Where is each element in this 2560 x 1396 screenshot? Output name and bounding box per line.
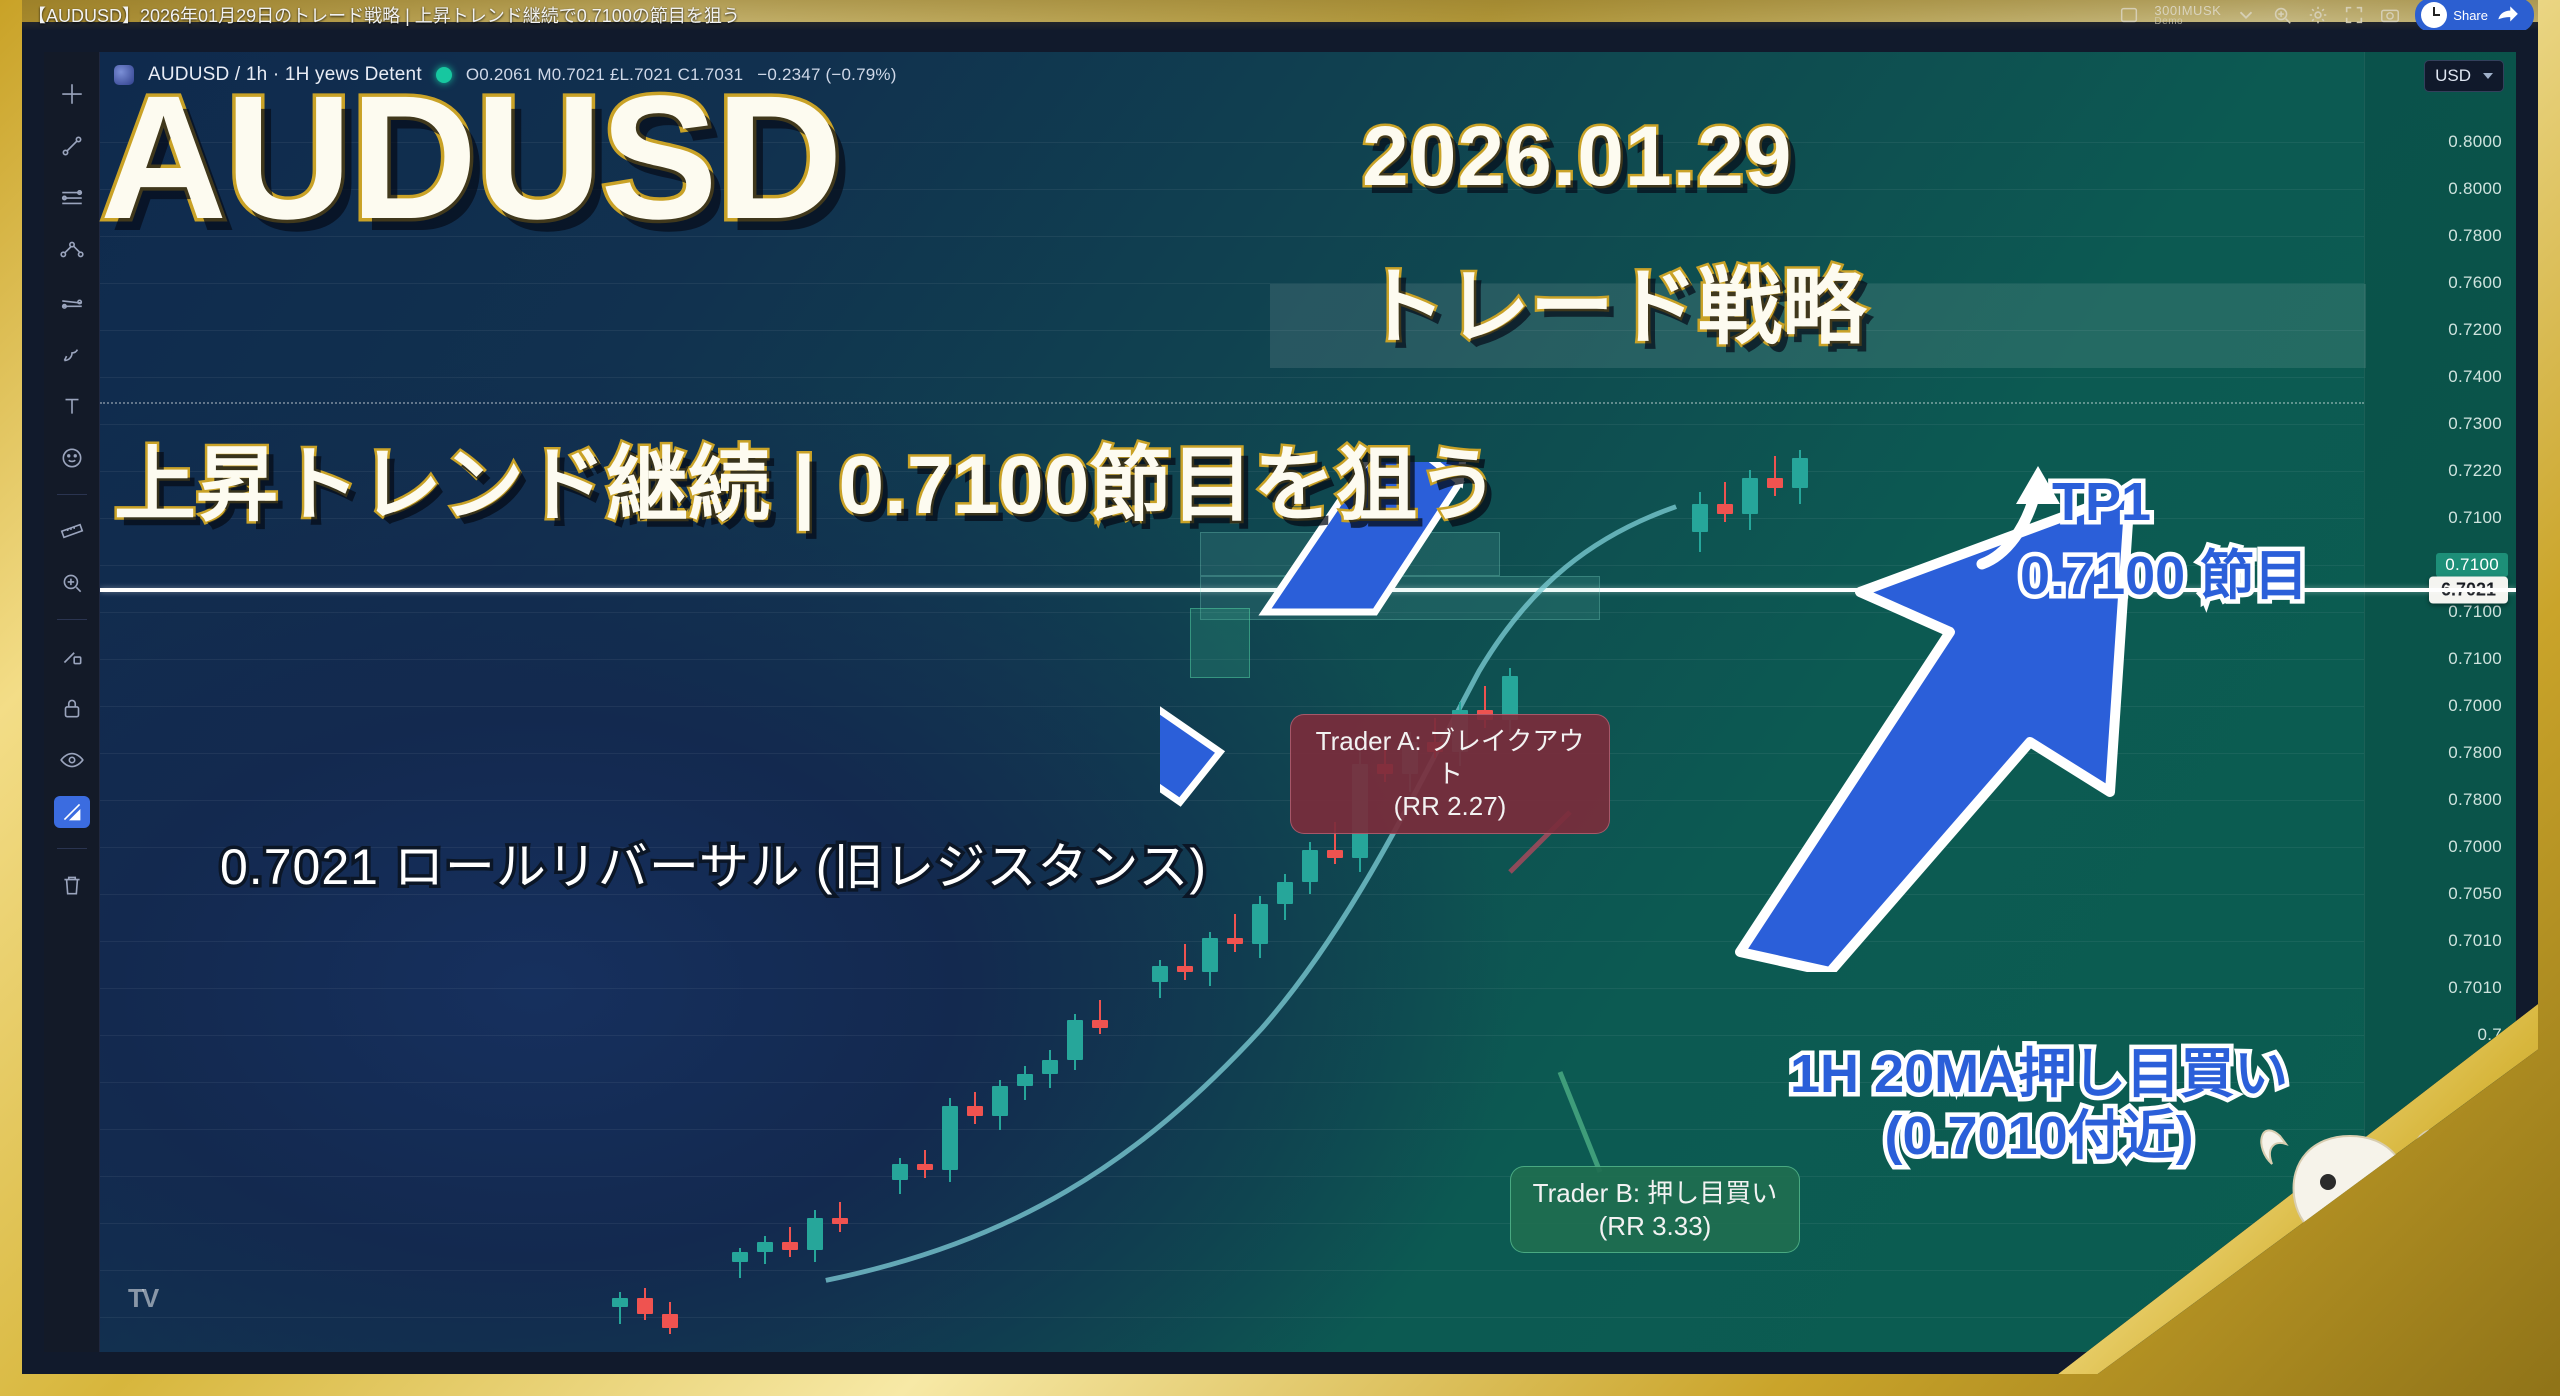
fib-retracement-icon[interactable] [54, 182, 90, 214]
gridline [100, 424, 2364, 425]
candle-body [967, 1106, 983, 1116]
emoji-icon[interactable] [54, 442, 90, 474]
price-axis-tick: 0.7100 [2436, 553, 2508, 577]
price-axis-tick: 0.7200 [2448, 320, 2502, 340]
toolbar-divider-2 [57, 619, 87, 620]
candlestick [1302, 842, 1318, 894]
candlestick [1017, 1066, 1033, 1100]
price-axis-tick: 0.7220 [2448, 461, 2502, 481]
lock-icon[interactable] [54, 692, 90, 724]
candle-wick [1184, 944, 1186, 980]
candlestick [1202, 932, 1218, 986]
candle-body [1792, 458, 1808, 488]
candlestick [942, 1098, 958, 1182]
price-axis-tick: 0.7800 [2448, 226, 2502, 246]
zoom-in-icon[interactable] [2271, 4, 2293, 26]
crosshair-icon[interactable] [54, 78, 90, 110]
candle-body [637, 1298, 653, 1314]
gridline [100, 706, 2364, 707]
candle-body [1017, 1074, 1033, 1086]
tp1-price-annotation: 0.7100 節目 [2020, 546, 2308, 608]
camera-icon[interactable] [2379, 4, 2401, 26]
candle-wick [1724, 482, 1726, 522]
currency-label: USD [2435, 66, 2471, 86]
candlestick [662, 1302, 678, 1334]
price-change: −0.2347 (−0.79%) [757, 65, 896, 85]
candle-body [1177, 966, 1193, 972]
price-axis-tick: 0.7600 [2448, 273, 2502, 293]
gridline [100, 1176, 2364, 1177]
trader-b-line-1: Trader B: 押し目買い [1529, 1177, 1781, 1210]
price-axis-tick: 0.8000 [2448, 179, 2502, 199]
candle-body [612, 1298, 628, 1307]
gridline [100, 988, 2364, 989]
candlestick [1277, 874, 1293, 920]
price-axis-tick: 0.7100 [2448, 508, 2502, 528]
candle-body [782, 1242, 798, 1250]
candlestick [892, 1158, 908, 1194]
candle-wick [839, 1202, 841, 1232]
trend-line-icon[interactable] [54, 130, 90, 162]
browser-title-bar: 【AUDUSD】2026年01月29日のトレード戦略 | 上昇トレンド継続で0.… [22, 0, 2538, 30]
candle-body [1252, 904, 1268, 944]
brush-icon[interactable] [54, 338, 90, 370]
candle-body [1042, 1060, 1058, 1074]
candle-body [662, 1314, 678, 1328]
price-axis-tick: 0.7800 [2448, 743, 2502, 763]
candle-body [1092, 1020, 1108, 1028]
candlestick [1067, 1014, 1083, 1070]
candle-body [917, 1164, 933, 1170]
candle-wick [1234, 914, 1236, 952]
chevron-down-icon[interactable] [2235, 4, 2257, 26]
candlestick [992, 1080, 1008, 1130]
pullback-entry-zone [1190, 608, 1250, 678]
account-sub-label: Demo [2154, 17, 2221, 27]
candlestick [1227, 914, 1243, 952]
trader-a-callout: Trader A: ブレイクアウト (RR 2.27) [1290, 714, 1610, 834]
gridline [100, 189, 2364, 190]
candle-wick [619, 1292, 621, 1324]
tp1-level-line [100, 402, 2364, 404]
currency-selector[interactable]: USD [2424, 60, 2504, 92]
candlestick [832, 1202, 848, 1232]
role-reversal-annotation: 0.7021 ロールリバーサル (旧レジスタンス) [220, 827, 1207, 899]
ma-entry-line-2: (0.7010付近) [1790, 1106, 2288, 1168]
window-icon[interactable] [2118, 4, 2140, 26]
candle-body [942, 1106, 958, 1170]
tp1-annotation: TP1 [2052, 472, 2151, 534]
drawing-toolbar[interactable] [44, 52, 100, 1352]
gridline [100, 800, 2364, 801]
candle-body [992, 1086, 1008, 1116]
browser-toolbar[interactable]: 300IMUSK Demo Share [2118, 0, 2538, 30]
price-axis-tick: 0.7000 [2448, 696, 2502, 716]
symbol-label[interactable]: AUDUSD / 1h · 1H yews Detent [148, 64, 422, 86]
candlestick [1252, 896, 1268, 958]
text-tool-icon[interactable] [54, 390, 90, 422]
pitchfork-icon[interactable] [54, 234, 90, 266]
candle-body [757, 1242, 773, 1252]
price-axis-tick: 0.7050 [2448, 884, 2502, 904]
price-axis-tick: 0.7400 [2448, 367, 2502, 387]
candle-body [1302, 850, 1318, 882]
toolbar-divider-3 [57, 848, 87, 849]
candle-body [1742, 478, 1758, 514]
symbol-logo-icon [114, 65, 134, 85]
candle-body [807, 1218, 823, 1250]
candlestick [1152, 960, 1168, 998]
candle-wick [1774, 456, 1776, 496]
gridline [100, 1223, 2364, 1224]
candlestick [1177, 944, 1193, 980]
gridline [100, 1270, 2364, 1271]
candlestick [1092, 1000, 1108, 1034]
candlestick [782, 1227, 798, 1257]
page-title: 【AUDUSD】2026年01月29日のトレード戦略 | 上昇トレンド継続で0.… [22, 2, 740, 28]
candle-body [1717, 504, 1733, 514]
ma-entry-annotation: 1H 20MA押し目買い (0.7010付近) [1790, 1044, 2288, 1167]
candlestick [1717, 482, 1733, 522]
magnet-mode-icon[interactable] [54, 640, 90, 672]
candle-body [892, 1164, 908, 1180]
candlestick [1767, 456, 1783, 496]
fullscreen-icon[interactable] [2343, 4, 2365, 26]
screenshot-inner-area: USD 0.80000.80000.78000.76000.72000.7400… [22, 22, 2538, 1374]
candle-body [1277, 882, 1293, 904]
price-axis-tick: 0.7010 [2448, 978, 2502, 998]
gridline [100, 1317, 2364, 1318]
price-axis-tick: 0.7100 [2448, 649, 2502, 669]
price-axis-tick: 0.7000 [2448, 837, 2502, 857]
gridline [100, 142, 2364, 143]
gridline [100, 377, 2364, 378]
price-axis-tick: 0.7300 [2448, 414, 2502, 434]
candle-body [1767, 478, 1783, 488]
candle-body [1202, 938, 1218, 972]
gear-icon[interactable] [2307, 4, 2329, 26]
candle-wick [1099, 1000, 1101, 1034]
gridline [100, 236, 2364, 237]
candle-body [732, 1252, 748, 1262]
price-axis-tick: 0.7800 [2448, 790, 2502, 810]
candlestick [612, 1292, 628, 1324]
entry-zone-extension [1200, 576, 1600, 620]
share-button[interactable]: Share [2415, 0, 2534, 30]
candle-body [1152, 966, 1168, 982]
candle-body [1227, 938, 1243, 944]
price-axis-tick: 0.7100 [2448, 602, 2502, 622]
drawing-mode-icon[interactable] [54, 796, 90, 828]
market-status-icon [436, 67, 452, 83]
candle-body [832, 1218, 848, 1224]
trader-b-callout: Trader B: 押し目買い (RR 3.33) [1510, 1166, 1800, 1253]
ohlc-values: O0.2061 M0.7021 £L.7021 C1.7031 [466, 65, 743, 85]
toolbar-divider [57, 494, 87, 495]
clock-icon [2421, 2, 2447, 28]
candlestick [1692, 492, 1708, 552]
tp1-zone [1270, 284, 2366, 368]
candlestick [732, 1248, 748, 1278]
price-axis-tick: 0.8000 [2448, 132, 2502, 152]
trader-a-line-1: Trader A: ブレイクアウト [1309, 725, 1591, 790]
candle-body [1327, 850, 1343, 858]
candlestick [1742, 470, 1758, 530]
candlestick [1042, 1050, 1058, 1088]
zoom-in-tool-icon[interactable] [54, 567, 90, 599]
gann-fan-icon[interactable] [54, 286, 90, 318]
candlestick [807, 1210, 823, 1262]
candlestick [757, 1236, 773, 1264]
gridline [100, 753, 2364, 754]
candlestick [917, 1150, 933, 1178]
gridline [100, 1035, 2364, 1036]
candle-body [1692, 504, 1708, 532]
price-axis-tick: 0.7010 [2448, 931, 2502, 951]
chevron-down-icon [2483, 73, 2493, 79]
candle-body [1067, 1020, 1083, 1060]
trader-b-line-2: (RR 3.33) [1529, 1210, 1781, 1243]
candlestick [637, 1288, 653, 1320]
share-label: Share [2453, 8, 2488, 23]
chart-info-bar: AUDUSD / 1h · 1H yews Detent O0.2061 M0.… [114, 64, 897, 86]
tradingview-watermark: TV [128, 1283, 157, 1314]
candlestick [967, 1092, 983, 1124]
ma-entry-line-1: 1H 20MA押し目買い [1790, 1044, 2288, 1106]
breakout-zone [1200, 532, 1500, 576]
candlestick [1792, 450, 1808, 504]
measure-ruler-icon[interactable] [54, 515, 90, 547]
account-label[interactable]: 300IMUSK [2154, 4, 2221, 17]
delete-drawings-icon[interactable] [54, 869, 90, 901]
hide-drawings-icon[interactable] [54, 744, 90, 776]
app-root: USD 0.80000.80000.78000.76000.72000.7400… [0, 0, 2560, 1396]
trader-a-line-2: (RR 2.27) [1309, 790, 1591, 823]
share-icon [2494, 2, 2520, 28]
